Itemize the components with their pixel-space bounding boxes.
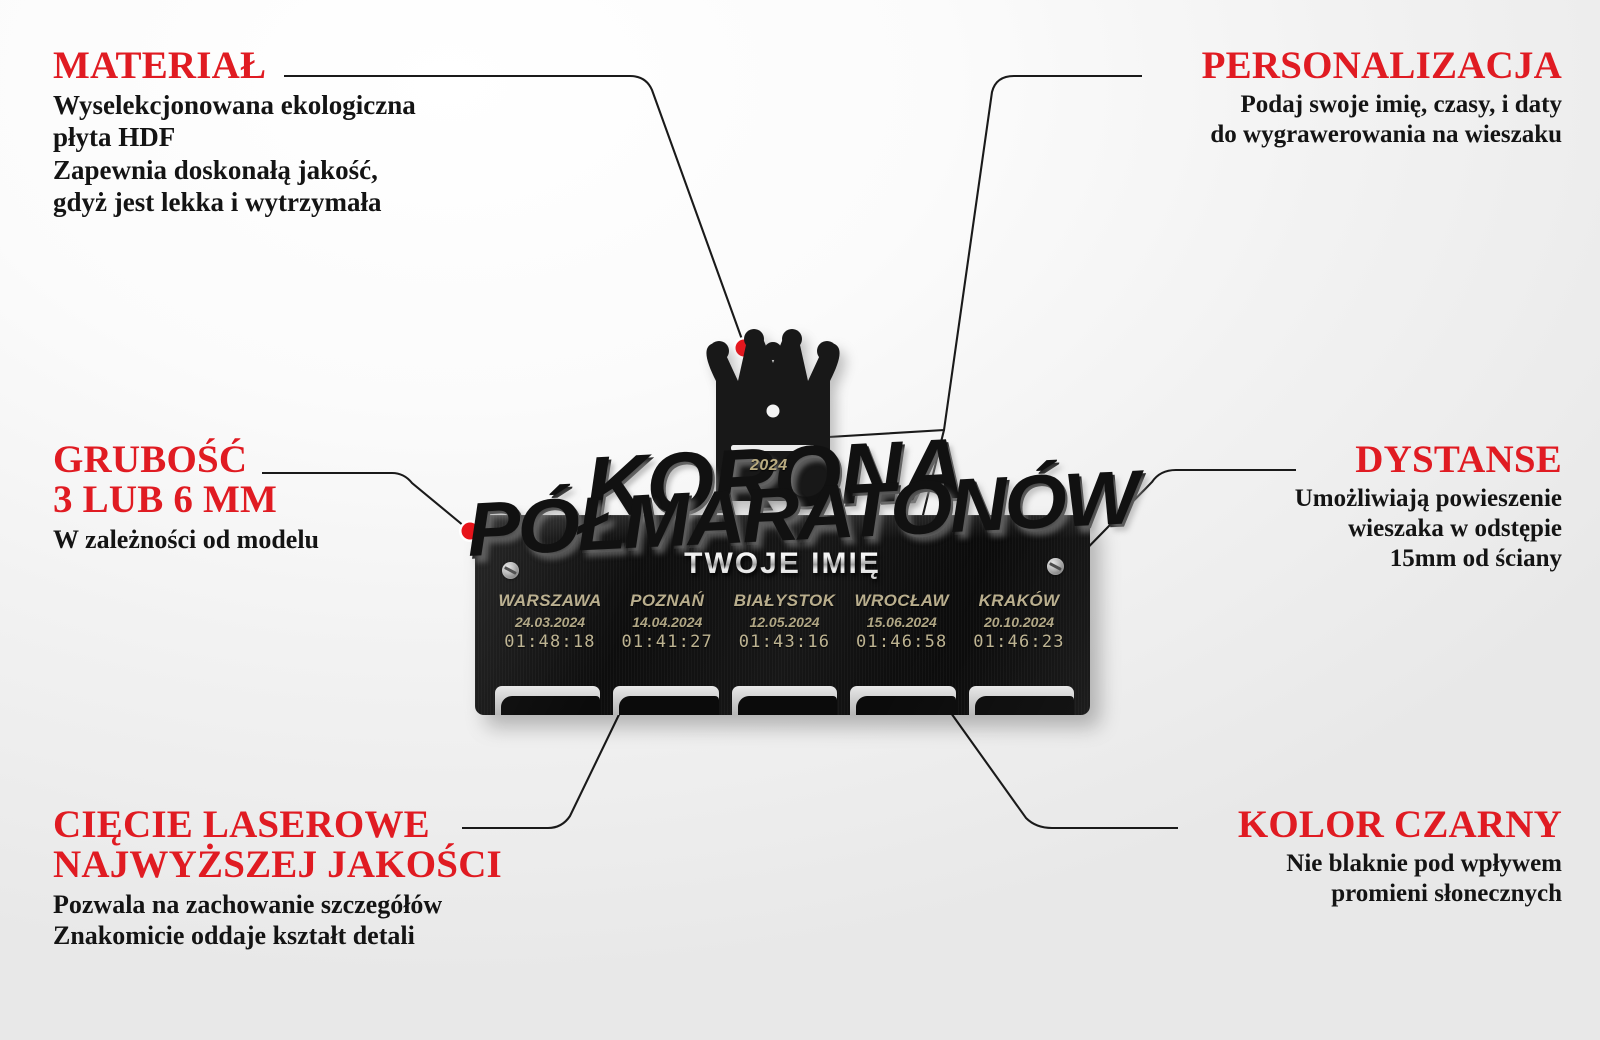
race-date: 20.10.2024	[964, 614, 1074, 630]
race-date: 14.04.2024	[612, 614, 722, 630]
callout-black-color-body: Nie blaknie pod wpływem promieni słonecz…	[1238, 849, 1562, 909]
race-date: 12.05.2024	[730, 614, 840, 630]
product-medal-hanger: 2024 TWOJE IMIĘ WARSZAWA 24.03.2024 01:4…	[455, 325, 1095, 715]
callout-thickness: GRUBOŚĆ 3 LUB 6 MM W zależności od model…	[53, 440, 319, 555]
hook-row	[495, 682, 1074, 715]
infographic-canvas: MATERIAŁ Wyselekcjonowana ekologiczna pł…	[0, 0, 1600, 1040]
medal-hook	[850, 686, 955, 715]
race-city: BIAŁYSTOK	[730, 591, 840, 611]
medal-hook	[969, 686, 1074, 715]
race-time: 01:48:18	[495, 632, 605, 652]
crown-mount-hole	[767, 405, 780, 418]
callout-distance-title: DYSTANSE	[1295, 440, 1562, 480]
callout-personalization: PERSONALIZACJA Podaj swoje imię, czasy, …	[1202, 46, 1562, 150]
medal-hook	[495, 686, 600, 715]
race-entry: KRAKÓW 20.10.2024 01:46:23	[964, 591, 1074, 652]
race-time: 01:43:16	[730, 632, 840, 652]
callout-laser-cutting-body: Pozwala na zachowanie szczegółów Znakomi…	[53, 889, 502, 951]
callout-distance-body: Umożliwiają powieszenie wieszaka w odstę…	[1295, 484, 1562, 574]
callout-black-color-title: KOLOR CZARNY	[1238, 805, 1562, 845]
race-list: WARSZAWA 24.03.2024 01:48:18 POZNAŃ 14.0…	[495, 591, 1074, 652]
crown-year-engraving: 2024	[750, 457, 788, 475]
race-city: KRAKÓW	[964, 591, 1074, 611]
race-entry: WARSZAWA 24.03.2024 01:48:18	[495, 591, 605, 652]
callout-personalization-body: Podaj swoje imię, czasy, i daty do wygra…	[1202, 90, 1562, 150]
callout-thickness-body: W zależności od modelu	[53, 524, 319, 555]
race-city: WARSZAWA	[495, 591, 605, 611]
callout-thickness-title: GRUBOŚĆ 3 LUB 6 MM	[53, 440, 319, 520]
callout-material: MATERIAŁ Wyselekcjonowana ekologiczna pł…	[53, 46, 416, 218]
medal-hook	[732, 686, 837, 715]
race-date: 15.06.2024	[847, 614, 957, 630]
race-entry: WROCŁAW 15.06.2024 01:46:58	[847, 591, 957, 652]
callout-material-body: Wyselekcjonowana ekologiczna płyta HDF Z…	[53, 89, 416, 219]
race-entry: BIAŁYSTOK 12.05.2024 01:43:16	[730, 591, 840, 652]
callout-distance: DYSTANSE Umożliwiają powieszenie wieszak…	[1295, 440, 1562, 574]
medal-hook	[613, 686, 718, 715]
race-city: POZNAŃ	[612, 591, 722, 611]
race-time: 01:46:23	[964, 632, 1074, 652]
race-city: WROCŁAW	[847, 591, 957, 611]
race-entry: POZNAŃ 14.04.2024 01:41:27	[612, 591, 722, 652]
callout-laser-cutting-title: CIĘCIE LASEROWE NAJWYŻSZEJ JAKOŚCI	[53, 805, 502, 885]
callout-black-color: KOLOR CZARNY Nie blaknie pod wpływem pro…	[1238, 805, 1562, 909]
race-time: 01:41:27	[612, 632, 722, 652]
race-date: 24.03.2024	[495, 614, 605, 630]
callout-laser-cutting: CIĘCIE LASEROWE NAJWYŻSZEJ JAKOŚCI Pozwa…	[53, 805, 502, 951]
race-time: 01:46:58	[847, 632, 957, 652]
callout-personalization-title: PERSONALIZACJA	[1202, 46, 1562, 86]
callout-material-title: MATERIAŁ	[53, 46, 416, 86]
